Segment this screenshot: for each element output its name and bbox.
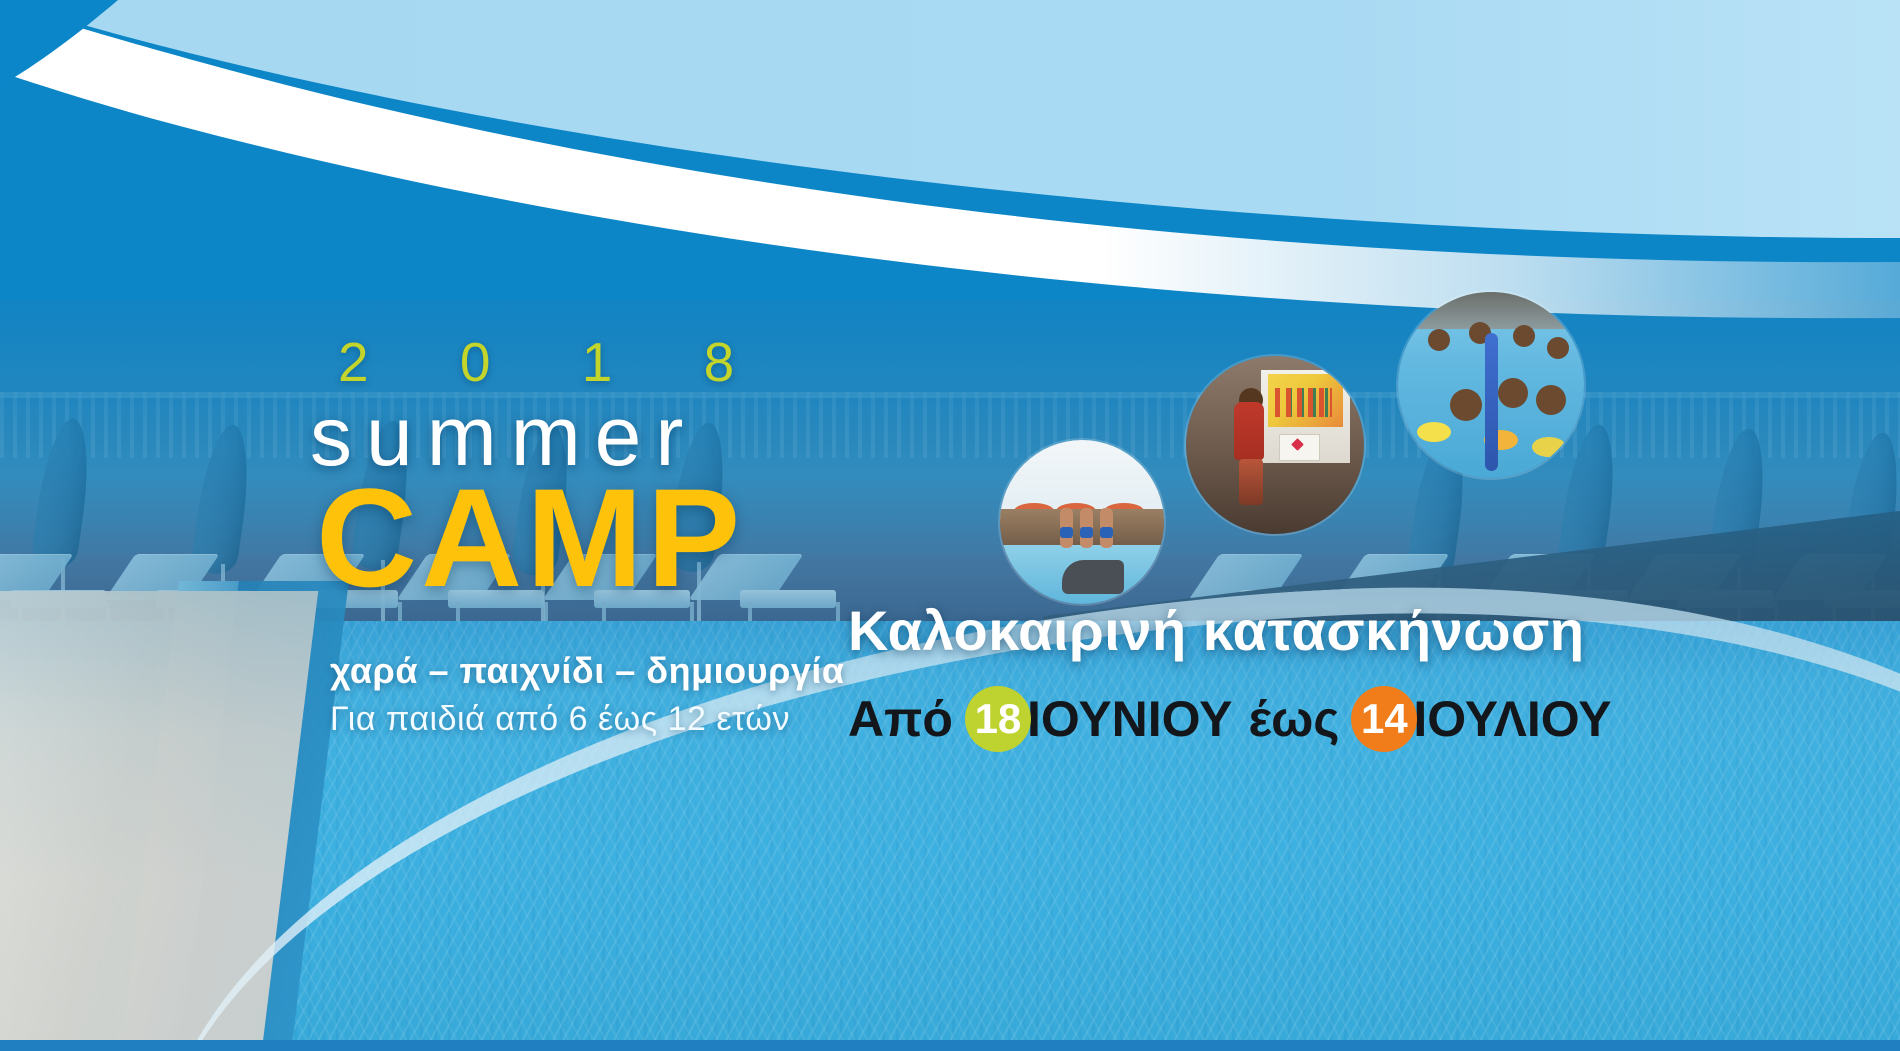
date-range-line: Από 18 ΙΟΥΝΙΟΥ έως 14 ΙΟΥΛΙΟΥ	[848, 686, 1612, 752]
end-day-badge: 14	[1351, 686, 1417, 752]
bottom-blue-strip	[0, 1040, 1900, 1051]
tagline-text: χαρά – παιχνίδι – δημιουργία	[330, 650, 845, 692]
start-day-badge: 18	[965, 686, 1031, 752]
photo-circle-kids-in-pool	[1398, 292, 1584, 478]
year-label: 2 0 1 8	[338, 330, 772, 394]
header-swoosh-graphic	[0, 0, 1900, 330]
headline-text: Καλοκαιρινή κατασκήνωση	[848, 598, 1585, 663]
photo-circle-rollerblading-child	[1186, 356, 1364, 534]
photo-circle-kids-jumping	[1000, 440, 1164, 604]
date-connector-label: έως	[1249, 694, 1340, 744]
end-month-label: ΙΟΥΛΙΟΥ	[1413, 694, 1611, 744]
camp-wordmark: CAMP	[316, 468, 744, 608]
age-range-text: Για παιδιά από 6 έως 12 ετών	[330, 700, 790, 739]
start-month-label: ΙΟΥΝΙΟΥ	[1027, 694, 1233, 744]
summer-camp-banner: 2 0 1 8 summer CAMP χαρά – παιχνίδι – δη…	[0, 0, 1900, 1051]
date-prefix-label: Από	[848, 694, 953, 744]
